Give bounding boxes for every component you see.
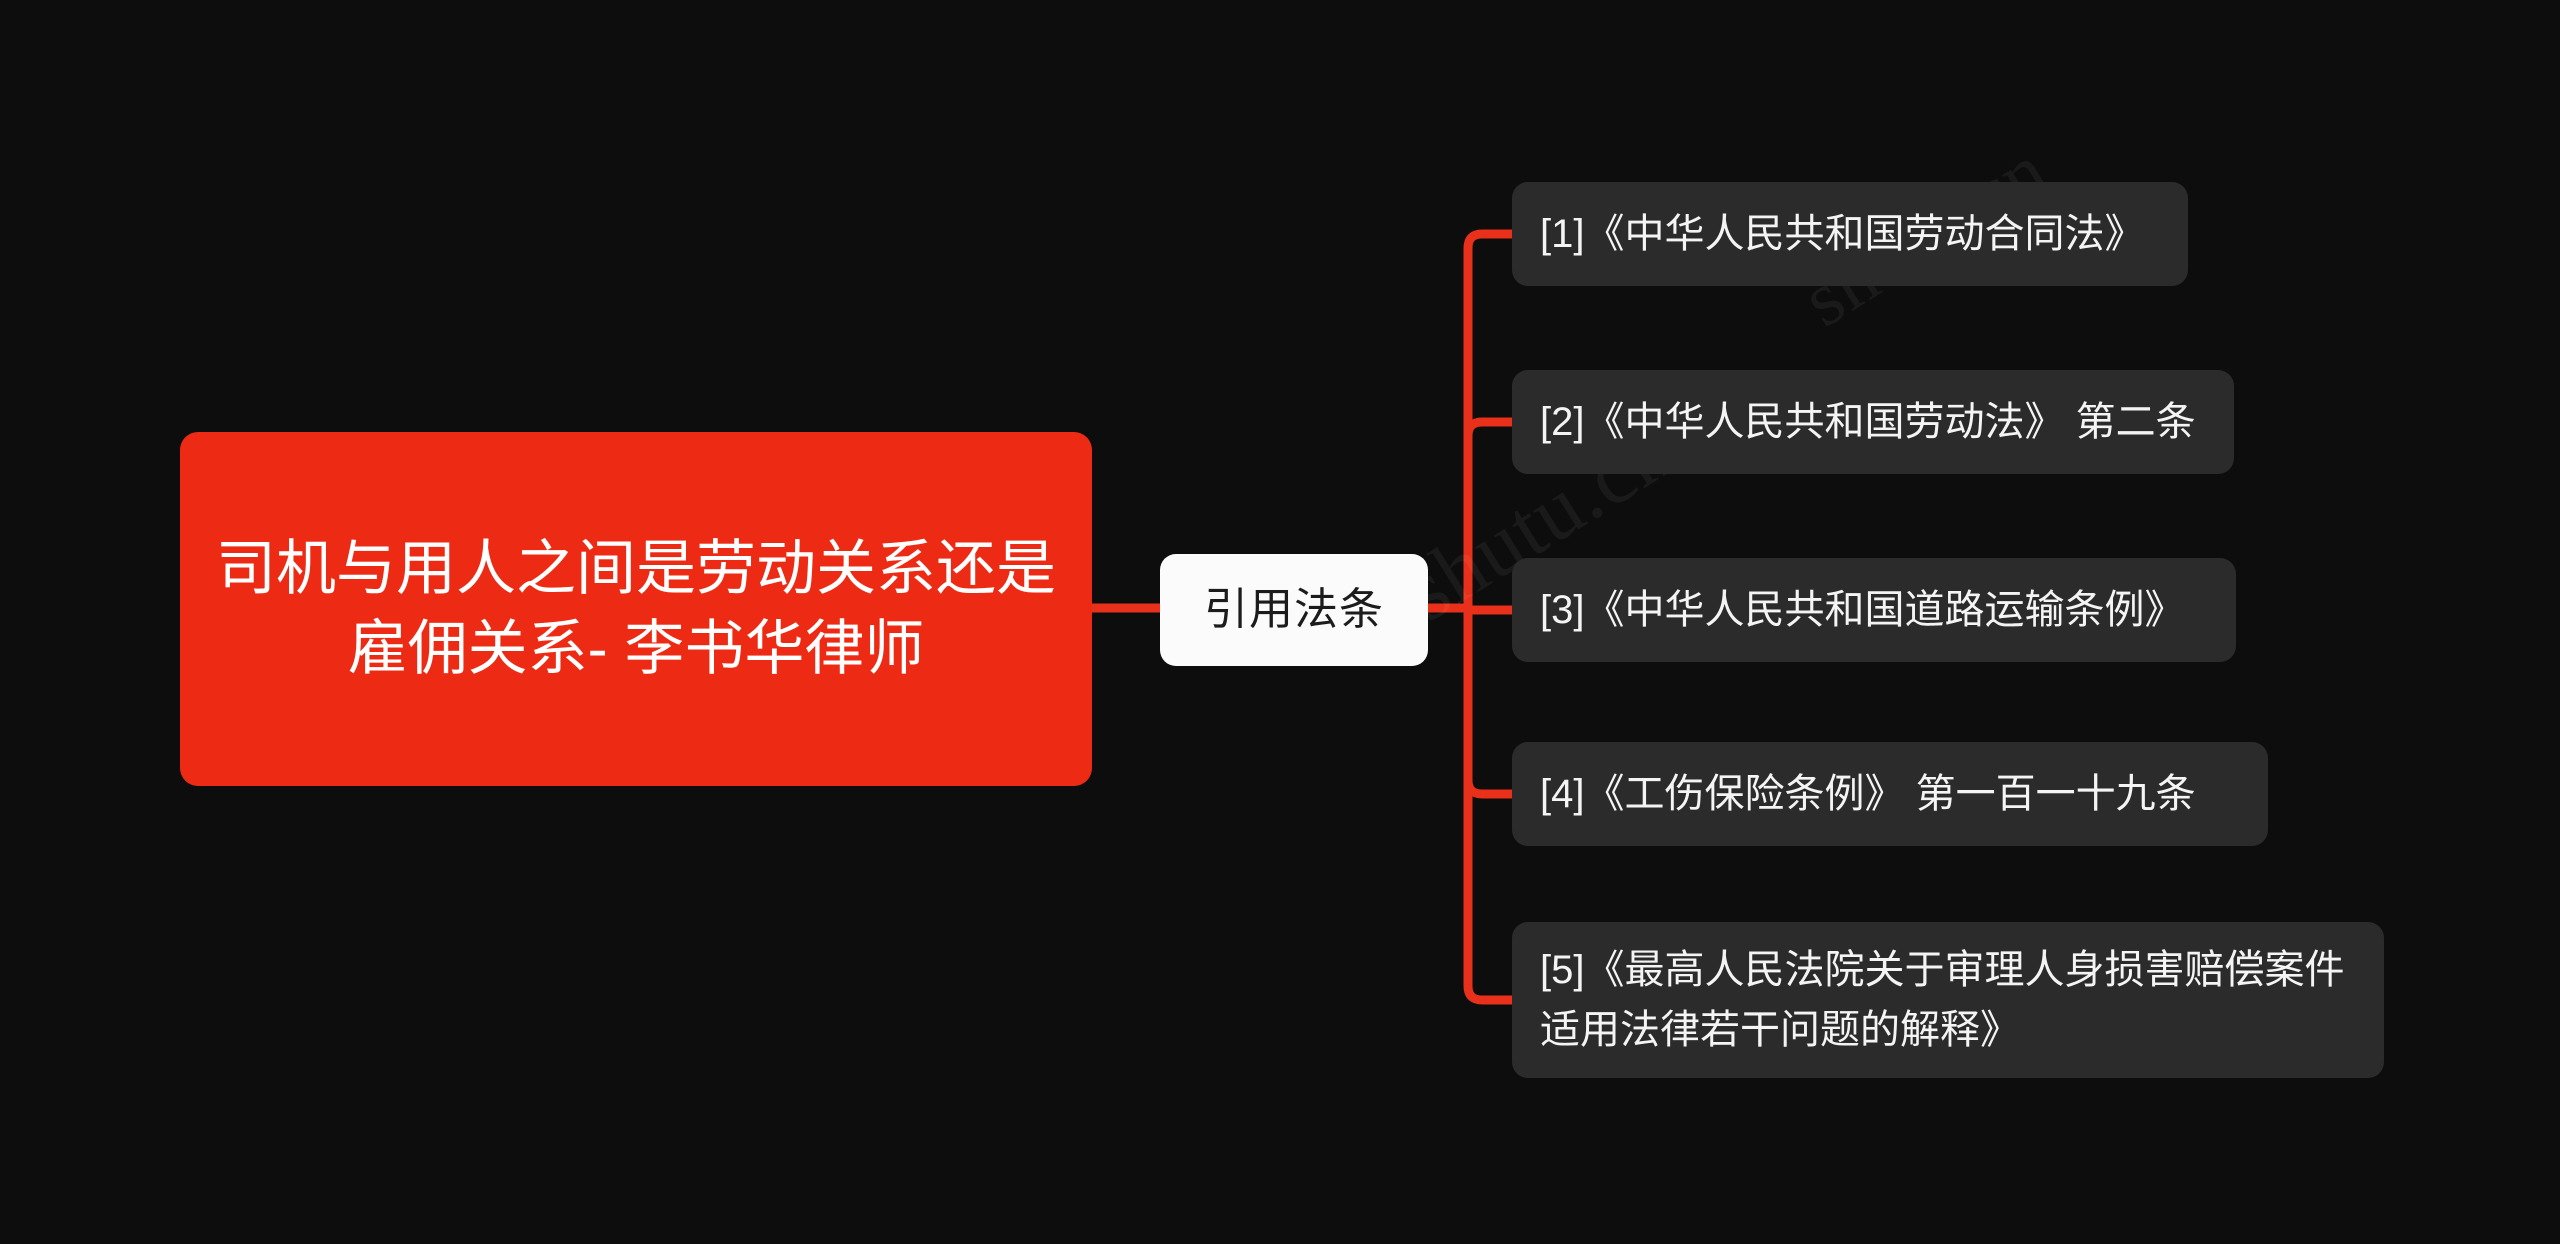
hub-node[interactable]: 引用法条 bbox=[1160, 554, 1428, 666]
leaf-node-5[interactable]: [5]《最高人民法院关于审理人身损害赔偿案件适用法律若干问题的解释》 bbox=[1512, 922, 2384, 1078]
link-branch-2 bbox=[1468, 422, 1512, 436]
leaf-node-2-label: [2]《中华人民共和国劳动法》 第二条 bbox=[1540, 392, 2196, 452]
hub-node-label: 引用法条 bbox=[1204, 584, 1384, 637]
root-node-label: 司机与用人之间是劳动关系还是雇佣关系- 李书华律师 bbox=[206, 529, 1066, 689]
leaf-node-4[interactable]: [4]《工伤保险条例》 第一百一十九条 bbox=[1512, 742, 2268, 846]
root-node[interactable]: 司机与用人之间是劳动关系还是雇佣关系- 李书华律师 bbox=[180, 432, 1092, 786]
mindmap-canvas: 司机与用人之间是劳动关系还是雇佣关系- 李书华律师 引用法条 [1]《中华人民共… bbox=[0, 0, 2560, 1244]
leaf-node-4-label: [4]《工伤保险条例》 第一百一十九条 bbox=[1540, 764, 2196, 824]
leaf-node-1[interactable]: [1]《中华人民共和国劳动合同法》 bbox=[1512, 182, 2188, 286]
leaf-node-3[interactable]: [3]《中华人民共和国道路运输条例》 bbox=[1512, 558, 2236, 662]
leaf-node-5-label: [5]《最高人民法院关于审理人身损害赔偿案件适用法律若干问题的解释》 bbox=[1540, 940, 2354, 1060]
link-branch-1 bbox=[1468, 234, 1512, 254]
leaf-node-1-label: [1]《中华人民共和国劳动合同法》 bbox=[1540, 204, 2144, 264]
link-branch-4 bbox=[1468, 780, 1512, 794]
leaf-node-2[interactable]: [2]《中华人民共和国劳动法》 第二条 bbox=[1512, 370, 2234, 474]
leaf-node-3-label: [3]《中华人民共和国道路运输条例》 bbox=[1540, 580, 2184, 640]
link-branch-5 bbox=[1468, 986, 1512, 1000]
